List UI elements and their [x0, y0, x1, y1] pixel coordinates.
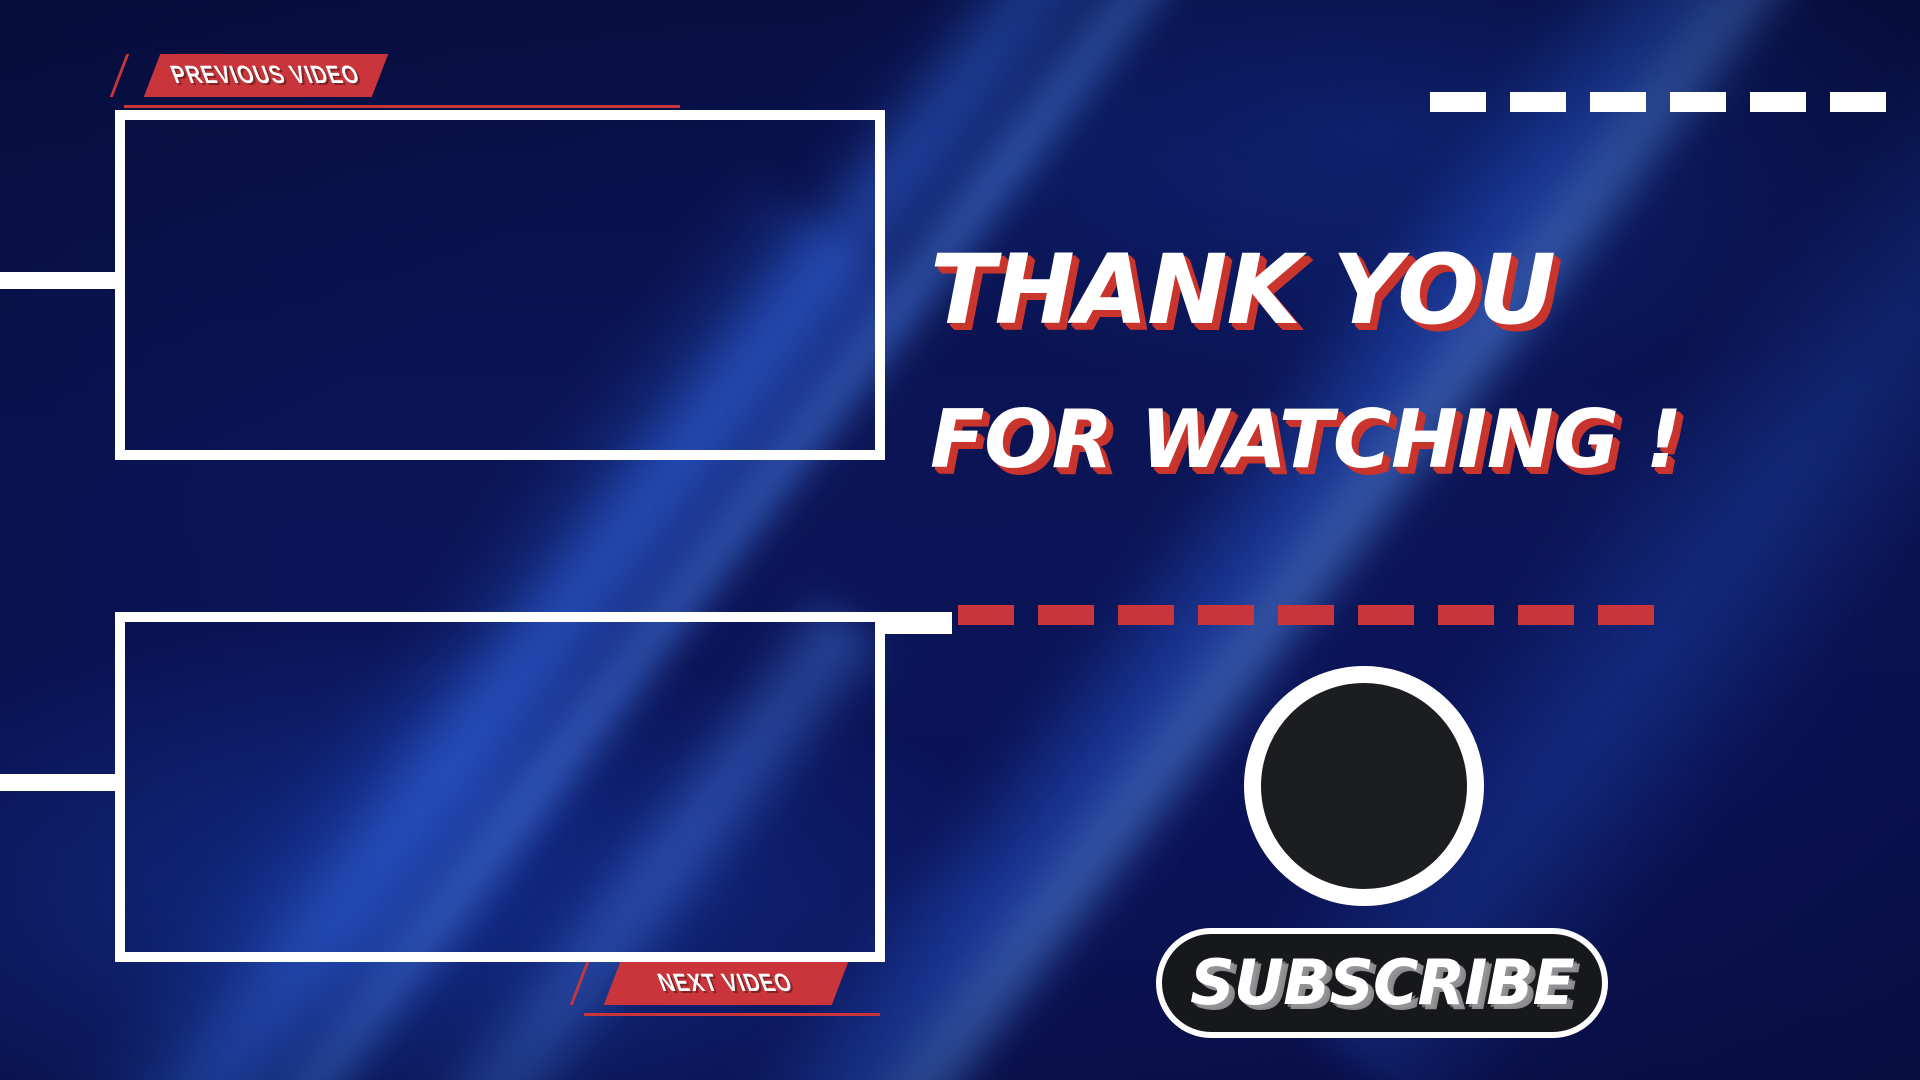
next-video-tag-label: NEXT VIDEO [643, 971, 808, 996]
title-line-for-watching: FOR WATCHING ! [930, 400, 1750, 480]
previous-video-tag-label: PREVIOUS VIDEO [149, 63, 383, 88]
dash-segment [1038, 605, 1094, 625]
channel-avatar[interactable] [1244, 666, 1484, 906]
dash-segment [1590, 92, 1646, 112]
dash-segment [958, 605, 1014, 625]
dash-segment [1118, 605, 1174, 625]
dash-segment [1358, 605, 1414, 625]
dash-segment [1830, 92, 1886, 112]
dash-segment [1750, 92, 1806, 112]
subscribe-button-label: SUBSCRIBE [1190, 952, 1574, 1014]
dash-segment [1510, 92, 1566, 112]
previous-video-tag-rule [124, 105, 680, 108]
dash-segment [1430, 92, 1486, 112]
next-video-tag[interactable]: NEXT VIDEO [604, 962, 849, 1005]
thank-you-title-block: THANK YOU FOR WATCHING ! [930, 242, 1750, 480]
white-dashed-rule [1430, 92, 1886, 112]
next-video-frame-connector [875, 612, 952, 634]
dash-segment [1438, 605, 1494, 625]
dash-segment [1670, 92, 1726, 112]
previous-video-tag[interactable]: PREVIOUS VIDEO [144, 54, 389, 97]
red-dashed-rule [958, 605, 1654, 625]
next-video-tag-rule [584, 1013, 880, 1016]
next-video-thumbnail-slot[interactable] [115, 612, 885, 962]
dash-segment [1198, 605, 1254, 625]
subscribe-button[interactable]: SUBSCRIBE [1156, 928, 1608, 1038]
dash-segment [1598, 605, 1654, 625]
previous-video-thumbnail-slot[interactable] [115, 110, 885, 460]
endscreen-canvas: PREVIOUS VIDEO NEXT VIDEO THANK YOU FOR … [0, 0, 1920, 1080]
connector-line-previous [0, 272, 120, 289]
connector-line-next [0, 774, 120, 791]
title-line-thank-you: THANK YOU [930, 242, 1750, 338]
dash-segment [1518, 605, 1574, 625]
dash-segment [1278, 605, 1334, 625]
